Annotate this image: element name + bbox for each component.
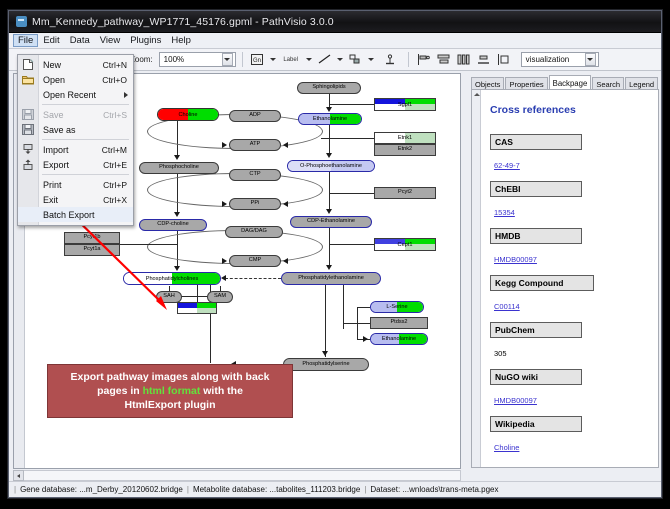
menu-plugins[interactable]: Plugins (125, 34, 166, 47)
menu-item-open[interactable]: Open Ctrl+O (18, 72, 133, 87)
menu-item-print-accel: Ctrl+P (103, 180, 127, 190)
shape-icon[interactable] (347, 51, 364, 68)
menu-item-save-as[interactable]: Save as (18, 122, 133, 137)
menu-item-open-accel: Ctrl+O (102, 75, 127, 85)
line-icon[interactable] (316, 51, 333, 68)
chevron-down-icon[interactable] (222, 53, 233, 66)
menu-separator (42, 174, 129, 175)
backpage-content: Cross references CAS 62-49-7 ChEBI 15354… (482, 90, 658, 467)
shape-dropdown-icon[interactable] (367, 52, 375, 68)
xref-source-nugo: NuGO wiki (490, 369, 582, 385)
expression-data-title: Expression data (490, 466, 650, 468)
anchor-icon[interactable] (382, 51, 399, 68)
label-button[interactable]: Label (280, 51, 302, 68)
menu-file[interactable]: File (13, 34, 38, 47)
cross-references-title: Cross references (490, 104, 650, 116)
panel-tabs: Objects Properties Backpage Search Legen… (471, 75, 659, 90)
menu-item-open-recent-label: Open Recent (43, 90, 96, 100)
annotation-line2b: with the (200, 385, 243, 397)
status-gene-database: Gene database: ...m_Derby_20120602.bridg… (16, 485, 187, 494)
new-document-icon (22, 59, 34, 70)
menu-item-batch-export[interactable]: Batch Export (18, 207, 133, 222)
xref-source-cas: CAS (490, 134, 582, 150)
line-dropdown-icon[interactable] (336, 52, 344, 68)
label-dropdown-icon[interactable] (305, 52, 313, 68)
screenshot-root: Mm_Kennedy_pathway_WP1771_45176.gpml - P… (0, 0, 670, 509)
distribute-icon[interactable] (455, 51, 472, 68)
menu-item-exit-accel: Ctrl+X (103, 195, 127, 205)
visualization-combobox[interactable]: visualization (521, 52, 599, 67)
zoom-value: 100% (164, 55, 222, 64)
menu-separator (42, 139, 129, 140)
visualization-value: visualization (526, 55, 585, 64)
svg-text:Gn: Gn (253, 58, 261, 64)
align-center-icon[interactable] (435, 51, 452, 68)
import-icon (22, 144, 34, 155)
submenu-arrow-icon (124, 92, 128, 98)
open-folder-icon (22, 74, 34, 85)
menu-item-batch-export-label: Batch Export (43, 210, 95, 220)
xref-link-hmdb[interactable]: HMDB00097 (494, 255, 537, 264)
window-title: Mm_Kennedy_pathway_WP1771_45176.gpml - P… (32, 16, 334, 28)
group-icon[interactable] (495, 51, 512, 68)
menu-item-export-label: Export (43, 160, 69, 170)
menu-item-save-accel: Ctrl+S (103, 110, 127, 120)
annotation-line1: Export pathway images along with back (71, 371, 270, 383)
menu-item-exit[interactable]: Exit Ctrl+X (18, 192, 133, 207)
annotation-text: Export pathway images along with back pa… (71, 370, 270, 412)
zoom-combobox[interactable]: 100% (159, 52, 236, 67)
menu-item-open-label: Open (43, 75, 65, 85)
xref-source-wikipedia: Wikipedia (490, 416, 582, 432)
menu-item-new-accel: Ctrl+N (103, 60, 127, 70)
file-menu-popup[interactable]: New Ctrl+N Open Ctrl+O Open Recent Save (17, 54, 134, 226)
menu-item-save-as-label: Save as (43, 125, 76, 135)
scroll-track[interactable] (24, 470, 461, 481)
panel-collapse-bar[interactable] (472, 90, 481, 467)
scroll-left-icon[interactable] (13, 470, 24, 481)
annotation-callout: Export pathway images along with back pa… (47, 364, 293, 418)
menu-help[interactable]: Help (166, 34, 196, 47)
tab-backpage[interactable]: Backpage (549, 75, 592, 90)
save-as-icon (22, 124, 34, 135)
xref-link-nugo[interactable]: HMDB00097 (494, 396, 537, 405)
xref-source-hmdb: HMDB (490, 228, 582, 244)
menu-item-save: Save Ctrl+S (18, 107, 133, 122)
annotation-highlight: html format (143, 385, 201, 397)
xref-link-kegg[interactable]: C00114 (494, 302, 520, 311)
xref-link-wikipedia[interactable]: Choline (494, 443, 519, 452)
backpage-panel: Cross references CAS 62-49-7 ChEBI 15354… (471, 89, 659, 468)
menu-item-import[interactable]: Import Ctrl+M (18, 142, 133, 157)
menu-edit[interactable]: Edit (38, 34, 64, 47)
menu-item-export[interactable]: Export Ctrl+E (18, 157, 133, 172)
stack-icon[interactable] (475, 51, 492, 68)
xref-link-cas[interactable]: 62-49-7 (494, 161, 520, 170)
annotation-line3: HtmlExport plugin (125, 399, 216, 411)
menu-bar: File Edit Data View Plugins Help (9, 33, 661, 49)
menu-item-new-label: New (43, 60, 61, 70)
xref-link-chebi[interactable]: 15354 (494, 208, 515, 217)
canvas-hscrollbar[interactable] (13, 470, 461, 481)
menu-item-print-label: Print (43, 180, 62, 190)
grid-dropdown-icon[interactable] (269, 52, 277, 68)
xref-source-pubchem: PubChem (490, 322, 582, 338)
pathvisio-icon (16, 16, 27, 27)
menu-item-export-accel: Ctrl+E (103, 160, 127, 170)
chevron-down-icon-2[interactable] (585, 53, 596, 66)
menu-item-print[interactable]: Print Ctrl+P (18, 177, 133, 192)
side-panel: Objects Properties Backpage Search Legen… (465, 73, 659, 469)
xref-source-kegg: Kegg Compound (490, 275, 594, 291)
align-left-icon[interactable] (415, 51, 432, 68)
menu-item-save-label: Save (43, 110, 64, 120)
menu-item-import-label: Import (43, 145, 69, 155)
save-disk-icon (22, 109, 34, 120)
status-dataset: Dataset: ...wnloads\trans-meta.pgex (366, 485, 502, 494)
menu-item-import-accel: Ctrl+M (102, 145, 127, 155)
status-metabolite-database: Metabolite database: ...tabolites_111203… (189, 485, 364, 494)
grid-icon[interactable]: Gn (249, 51, 266, 68)
annotation-line2a: pages in (97, 385, 143, 397)
application-window: Mm_Kennedy_pathway_WP1771_45176.gpml - P… (8, 10, 662, 498)
menu-separator (42, 104, 129, 105)
menu-item-open-recent[interactable]: Open Recent (18, 87, 133, 102)
menu-item-exit-label: Exit (43, 195, 58, 205)
title-bar: Mm_Kennedy_pathway_WP1771_45176.gpml - P… (9, 11, 661, 33)
status-bar: | Gene database: ...m_Derby_20120602.bri… (9, 481, 661, 497)
xref-source-chebi: ChEBI (490, 181, 582, 197)
export-icon (22, 159, 34, 170)
xref-value-pubchem: 305 (494, 349, 507, 358)
menu-view[interactable]: View (95, 34, 125, 47)
menu-item-new[interactable]: New Ctrl+N (18, 57, 133, 72)
menu-data[interactable]: Data (65, 34, 95, 47)
collapse-arrow-icon[interactable] (474, 93, 480, 96)
